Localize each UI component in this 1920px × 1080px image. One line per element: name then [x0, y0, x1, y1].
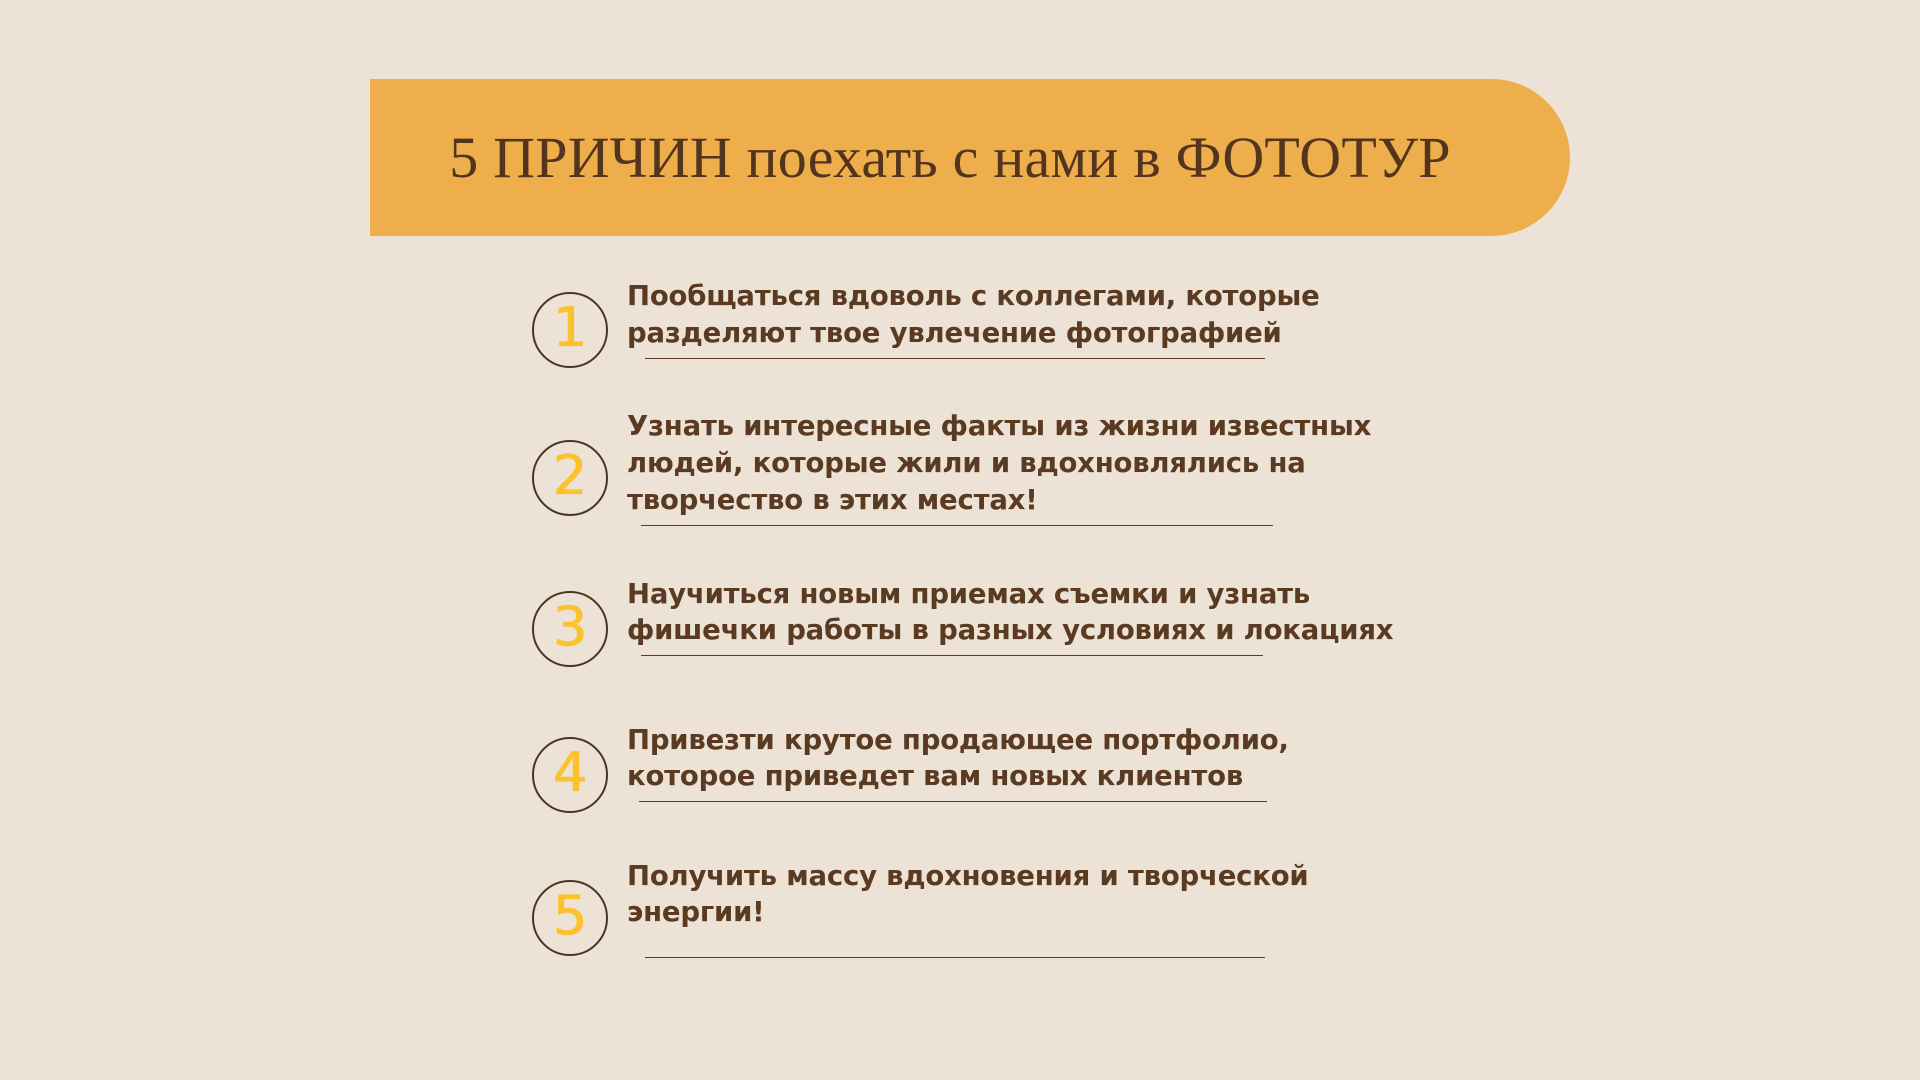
reason-text: Привезти крутое продающее портфолио, кот…: [627, 722, 1720, 796]
page-title: 5 ПРИЧИН поехать с нами в ФОТОТУР: [449, 129, 1450, 187]
reason-text: Узнать интересные факты из жизни известн…: [627, 408, 1720, 519]
reasons-list: 1 Пообщаться вдоволь с коллегами, которы…: [520, 278, 1720, 958]
number-badge-wrap: 2: [520, 408, 620, 516]
number-circle-icon: 4: [532, 737, 608, 813]
reason-body: Узнать интересные факты из жизни известн…: [620, 408, 1720, 526]
number-circle-icon: 2: [532, 440, 608, 516]
underline-rule: [641, 655, 1263, 656]
underline-rule: [641, 525, 1273, 526]
underline-rule: [645, 358, 1265, 359]
reason-text: Научиться новым приемах съемки и узнать …: [627, 576, 1720, 650]
reason-number: 1: [553, 301, 587, 355]
underline-rule: [645, 957, 1265, 958]
reason-body: Научиться новым приемах съемки и узнать …: [620, 576, 1720, 657]
reason-number: 4: [553, 746, 587, 800]
list-item: 5 Получить массу вдохновения и творческо…: [520, 858, 1720, 959]
reason-number: 2: [553, 449, 587, 503]
number-badge-wrap: 1: [520, 278, 620, 368]
reason-body: Пообщаться вдоволь с коллегами, которые …: [620, 278, 1720, 359]
underline-rule: [639, 801, 1267, 802]
reason-number: 5: [553, 889, 587, 943]
number-circle-icon: 3: [532, 591, 608, 667]
reason-number: 3: [553, 600, 587, 654]
list-item: 4 Привезти крутое продающее портфолио, к…: [520, 722, 1720, 813]
number-badge-wrap: 4: [520, 722, 620, 813]
list-item: 3 Научиться новым приемах съемки и узнат…: [520, 576, 1720, 667]
slide-canvas: 5 ПРИЧИН поехать с нами в ФОТОТУР 1 Пооб…: [0, 0, 1920, 1080]
header-banner: 5 ПРИЧИН поехать с нами в ФОТОТУР: [370, 79, 1570, 236]
reason-body: Получить массу вдохновения и творческой …: [620, 858, 1720, 959]
number-circle-icon: 1: [532, 292, 608, 368]
list-item: 2 Узнать интересные факты из жизни извес…: [520, 408, 1720, 526]
number-badge-wrap: 3: [520, 576, 620, 667]
reason-text: Получить массу вдохновения и творческой …: [627, 858, 1720, 932]
list-item: 1 Пообщаться вдоволь с коллегами, которы…: [520, 278, 1720, 368]
number-badge-wrap: 5: [520, 858, 620, 956]
number-circle-icon: 5: [532, 880, 608, 956]
reason-text: Пообщаться вдоволь с коллегами, которые …: [627, 278, 1720, 352]
reason-body: Привезти крутое продающее портфолио, кот…: [620, 722, 1720, 803]
